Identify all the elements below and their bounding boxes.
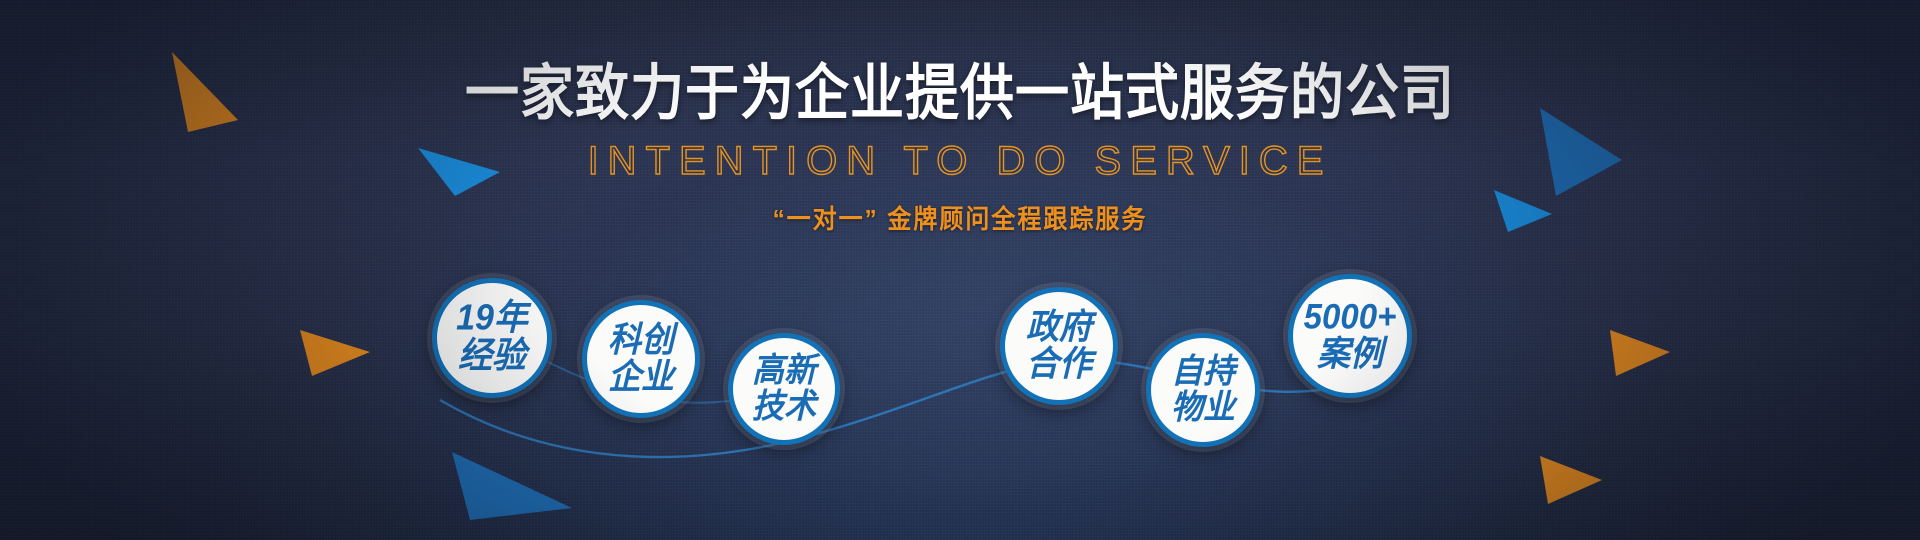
triangle-blue-lower-left [452, 452, 572, 520]
triangle-orange-mid-left [300, 330, 370, 376]
badge-label: 5000+ 案例 [1300, 299, 1401, 372]
page-title: 一家致力于为企业提供一站式服务的公司 [0, 62, 1920, 125]
badge-label: 19年 经验 [452, 300, 532, 376]
badge-label: 政府 合作 [1022, 309, 1096, 382]
triangle-orange-mid-right [1610, 330, 1670, 376]
triangle-orange-lower-right [1540, 456, 1602, 504]
banner-tagline: “一对一” 金牌顾问全程跟踪服务 [0, 197, 1920, 235]
badge-label: 科创 企业 [604, 322, 678, 395]
hero-banner: 一家致力于为企业提供一站式服务的公司 INTENTION TO DO SERVI… [0, 0, 1920, 540]
banner-subtitle-english: INTENTION TO DO SERVICE [0, 141, 1920, 181]
badge-gov-cooperation[interactable]: 政府 合作 [1000, 287, 1118, 405]
badge-owned-property[interactable]: 自持 物业 [1146, 333, 1260, 447]
badge-tech-startup[interactable]: 科创 企业 [582, 300, 700, 418]
badge-high-tech[interactable]: 高新 技术 [728, 333, 840, 445]
badge-5000-cases[interactable]: 5000+ 案例 [1288, 274, 1412, 398]
banner-text-block: 一家致力于为企业提供一站式服务的公司 INTENTION TO DO SERVI… [0, 62, 1920, 234]
badge-label: 自持 物业 [1167, 354, 1239, 425]
badge-19-years[interactable]: 19年 经验 [432, 278, 552, 398]
badge-label: 高新 技术 [748, 353, 820, 424]
